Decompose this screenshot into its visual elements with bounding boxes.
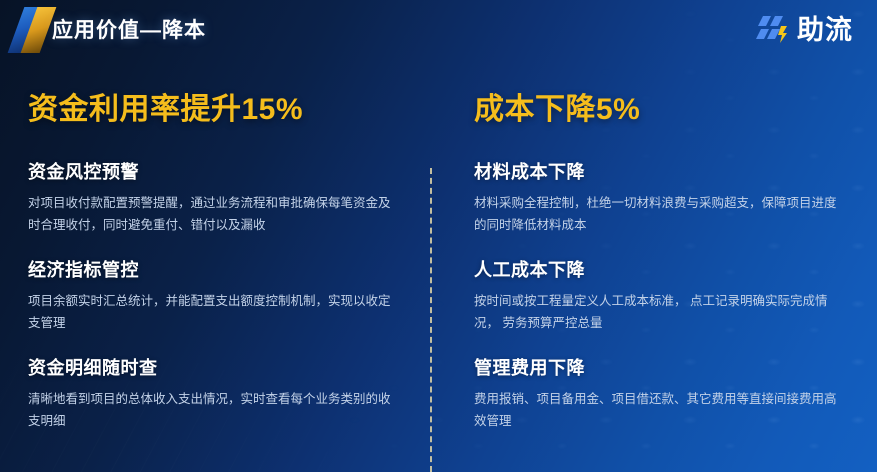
value-block: 材料成本下降 材料采购全程控制，杜绝一切材料浪费与采购超支，保障项目进度的同时降… [474,158,864,236]
value-block-title: 人工成本下降 [474,256,864,282]
value-block-title: 管理费用下降 [474,354,864,380]
page-title: 应用价值—降本 [52,14,206,44]
value-block-description: 费用报销、项目备用金、项目借还款、其它费用等直接间接费用高效管理 [474,389,847,432]
value-block-description: 清晰地看到项目的总体收入支出情况，实时查看每个业务类别的收支明细 [28,389,401,432]
value-block-title: 材料成本下降 [474,158,864,184]
column-divider [430,168,432,472]
column-right: 成本下降5% 材料成本下降 材料采购全程控制，杜绝一切材料浪费与采购超支，保障项… [474,84,864,452]
column-left-headline: 资金利用率提升15% [28,84,418,128]
logo-mark-icon [756,14,790,46]
value-block-description: 对项目收付款配置预警提醒，通过业务流程和审批确保每笔资金及时合理收付，同时避免重… [28,193,401,236]
value-block-description: 项目余额实时汇总统计，并能配置支出额度控制机制，实现以收定支管理 [28,291,401,334]
slide-root: 应用价值—降本 助流 资金利用率提升15% 资金风控预警 对项目收付款配置预警提… [0,0,877,472]
column-left: 资金利用率提升15% 资金风控预警 对项目收付款配置预警提醒，通过业务流程和审批… [28,84,418,452]
value-block-title: 资金明细随时查 [28,354,418,380]
value-block-title: 资金风控预警 [28,158,418,184]
logo-text: 助流 [797,17,853,44]
slide-header: 应用价值—降本 助流 [0,0,877,60]
column-right-headline: 成本下降5% [474,84,864,128]
brand-logo: 助流 [756,12,853,48]
value-block: 人工成本下降 按时间或按工程量定义人工成本标准， 点工记录明确实际完成情况， 劳… [474,256,864,334]
value-block: 经济指标管控 项目余额实时汇总统计，并能配置支出额度控制机制，实现以收定支管理 [28,256,418,334]
value-block: 资金明细随时查 清晰地看到项目的总体收入支出情况，实时查看每个业务类别的收支明细 [28,354,418,432]
value-block-description: 按时间或按工程量定义人工成本标准， 点工记录明确实际完成情况， 劳务预算严控总量 [474,291,847,334]
value-block: 资金风控预警 对项目收付款配置预警提醒，通过业务流程和审批确保每笔资金及时合理收… [28,158,418,236]
value-block-title: 经济指标管控 [28,256,418,282]
value-block: 管理费用下降 费用报销、项目备用金、项目借还款、其它费用等直接间接费用高效管理 [474,354,864,432]
value-block-description: 材料采购全程控制，杜绝一切材料浪费与采购超支，保障项目进度的同时降低材料成本 [474,193,847,236]
